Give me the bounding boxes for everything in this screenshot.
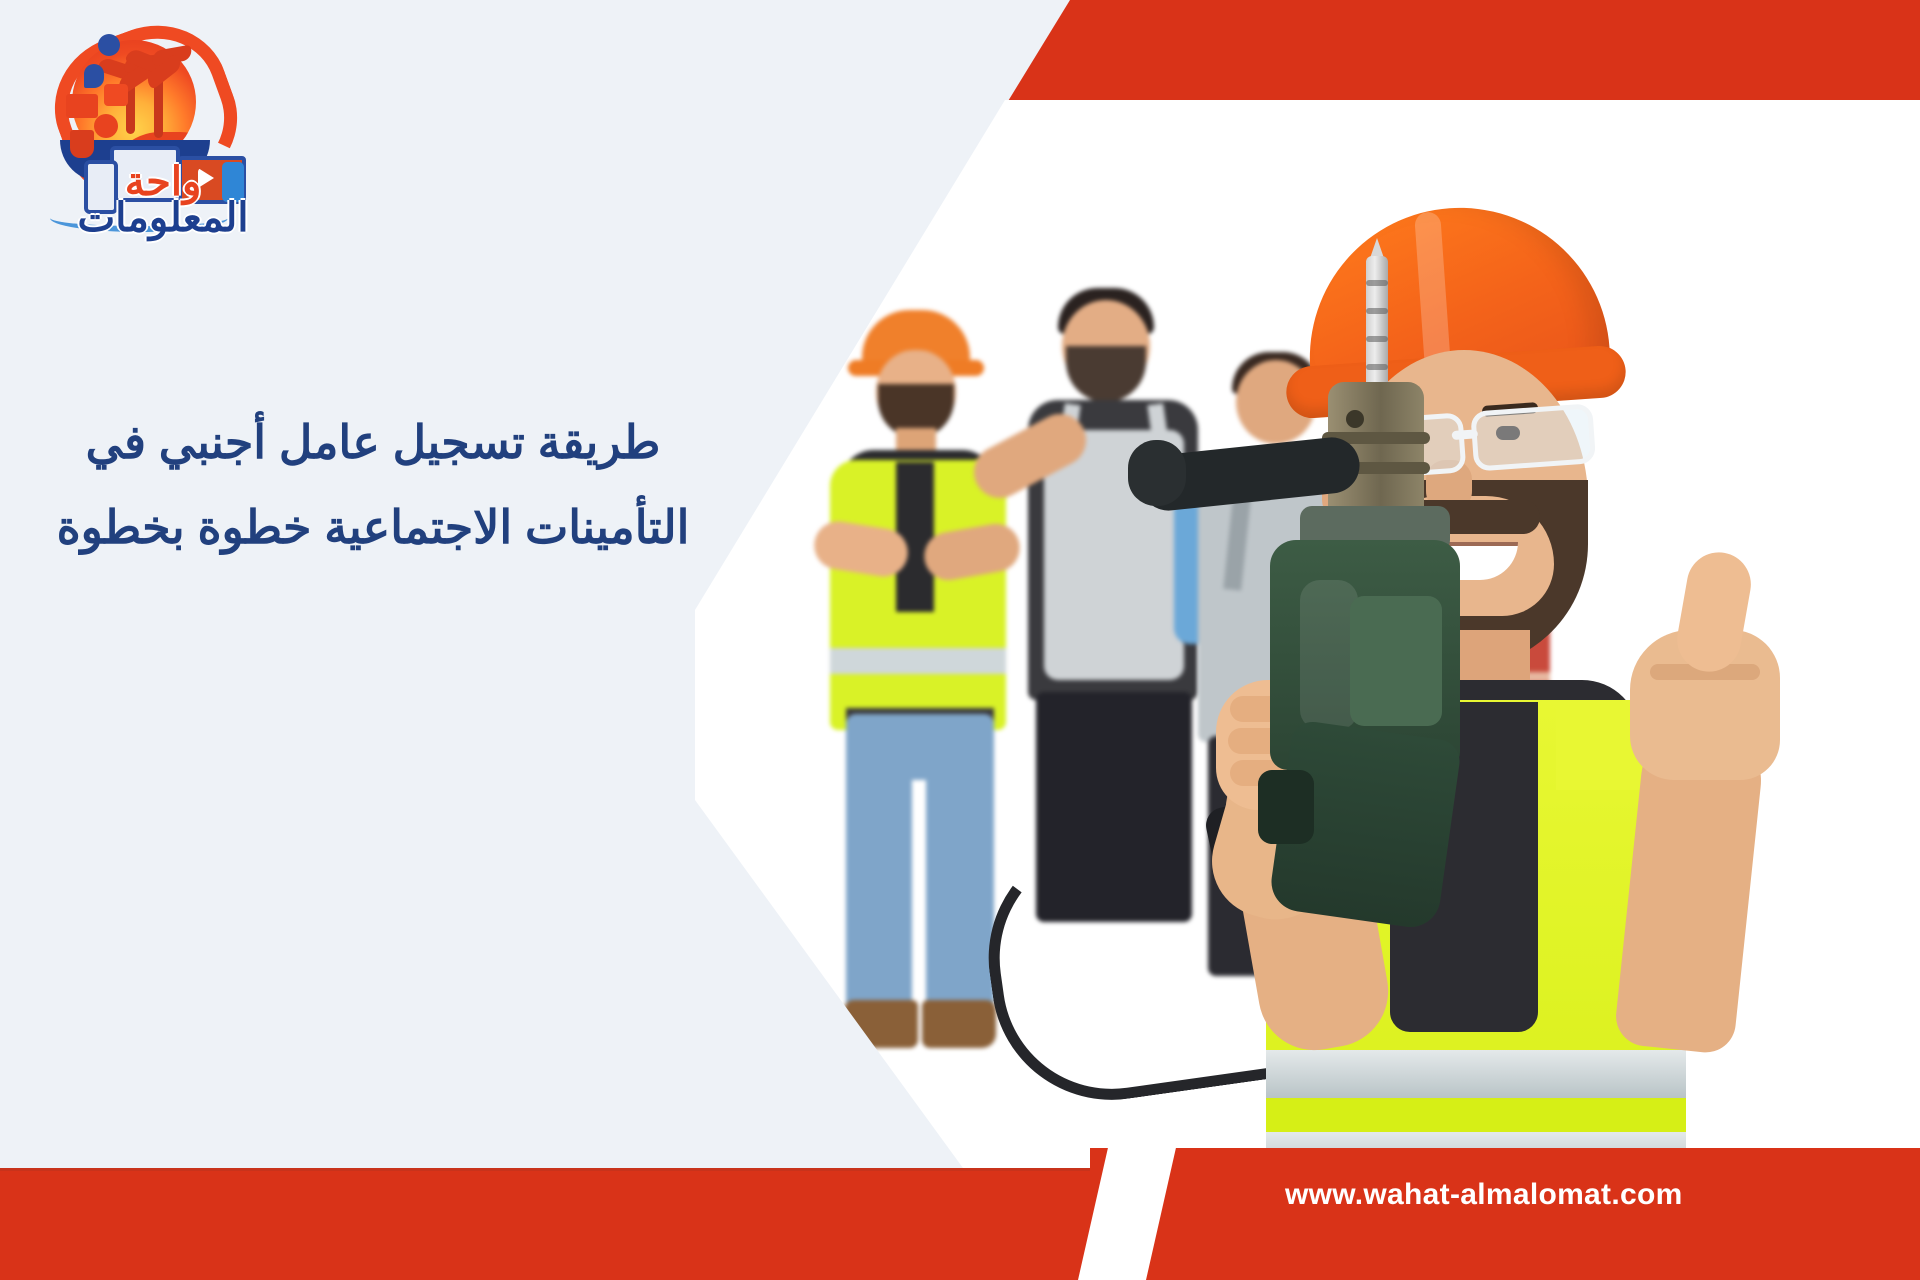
flask-icon xyxy=(70,130,94,158)
photo-frame xyxy=(690,100,1920,1260)
chuck-key-hole xyxy=(1346,410,1364,428)
drill-bit-flute xyxy=(1366,280,1388,286)
vest-reflective-stripe xyxy=(1266,1050,1686,1098)
drill-bit-flute xyxy=(1366,336,1388,342)
globe-icon xyxy=(98,34,120,56)
photo-image xyxy=(690,100,1920,1260)
vest-reflective-stripe xyxy=(830,648,1006,674)
location-pin-icon xyxy=(84,64,104,88)
tv-icon xyxy=(66,94,98,118)
satellite-icon xyxy=(94,114,118,138)
drill-bit-flute xyxy=(1366,308,1388,314)
website-url[interactable]: www.wahat-almalomat.com xyxy=(1285,1178,1683,1212)
footer-bar-hairline xyxy=(0,1168,1100,1171)
footer-bar-left xyxy=(0,1168,1100,1280)
page-title-text: طريقة تسجيل عامل أجنبي في التأمينات الاج… xyxy=(57,416,690,553)
music-note-icon xyxy=(104,84,128,106)
power-drill xyxy=(1150,250,1570,890)
footer-bar-right xyxy=(1090,1148,1920,1280)
right-boot xyxy=(922,1000,996,1048)
drill-bit-flute xyxy=(1366,364,1388,370)
logo-word-line2: المعلومات xyxy=(58,198,268,238)
vest-stripe-yellow xyxy=(1266,1098,1686,1132)
drill-trigger xyxy=(1258,770,1314,844)
drill-bit xyxy=(1366,256,1388,396)
drill-side-handle-cap xyxy=(1128,440,1186,506)
leg-gap xyxy=(912,780,926,1016)
drill-panel xyxy=(1350,596,1442,726)
site-logo[interactable]: واحة المعلومات xyxy=(36,22,236,222)
left-boot xyxy=(844,1000,918,1048)
poster-canvas: www.wahat-almalomat.com xyxy=(0,0,1920,1280)
page-title: طريقة تسجيل عامل أجنبي في التأمينات الاج… xyxy=(40,400,706,570)
logo-wordmark: واحة المعلومات xyxy=(58,162,268,238)
